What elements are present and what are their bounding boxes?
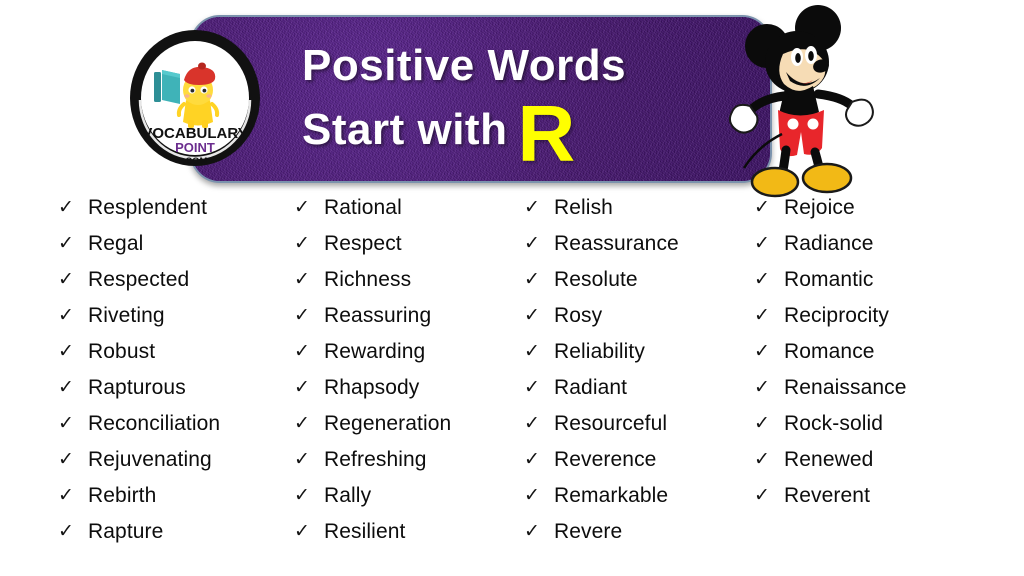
list-item[interactable]: ✓Resilient xyxy=(294,520,524,556)
check-icon: ✓ xyxy=(524,522,554,541)
check-icon: ✓ xyxy=(294,198,324,217)
list-item[interactable]: ✓Renewed xyxy=(754,448,990,484)
logo-text-point: POINT xyxy=(175,140,215,155)
check-icon: ✓ xyxy=(294,234,324,253)
check-icon: ✓ xyxy=(294,522,324,541)
word-label: Rhapsody xyxy=(324,376,419,400)
word-label: Revere xyxy=(554,520,622,544)
list-item[interactable]: ✓Rally xyxy=(294,484,524,520)
list-item[interactable]: ✓Renaissance xyxy=(754,376,990,412)
check-icon: ✓ xyxy=(294,378,324,397)
list-item[interactable]: ✓Rapture xyxy=(58,520,294,556)
word-label: Reverent xyxy=(784,484,870,508)
title-banner: Positive Words Start with R xyxy=(190,15,772,183)
infographic-page: Positive Words Start with R xyxy=(0,0,1024,576)
word-column-4: ✓Rejoice ✓Radiance ✓Romantic ✓Reciprocit… xyxy=(754,196,990,572)
check-icon: ✓ xyxy=(754,378,784,397)
word-label: Regal xyxy=(88,232,143,256)
check-icon: ✓ xyxy=(294,450,324,469)
word-label: Refreshing xyxy=(324,448,427,472)
word-label: Rebirth xyxy=(88,484,156,508)
list-item[interactable]: ✓Reverence xyxy=(524,448,754,484)
word-label: Renewed xyxy=(784,448,873,472)
list-item[interactable]: ✓Richness xyxy=(294,268,524,304)
list-item[interactable]: ✓Respected xyxy=(58,268,294,304)
list-item[interactable]: ✓Reverent xyxy=(754,484,990,520)
word-label: Rapture xyxy=(88,520,163,544)
list-item[interactable]: ✓Rebirth xyxy=(58,484,294,520)
check-icon: ✓ xyxy=(294,270,324,289)
check-icon: ✓ xyxy=(524,234,554,253)
word-label: Rally xyxy=(324,484,371,508)
check-icon: ✓ xyxy=(754,486,784,505)
list-item[interactable]: ✓Romantic xyxy=(754,268,990,304)
list-item[interactable]: ✓Robust xyxy=(58,340,294,376)
list-item[interactable]: ✓Reassurance xyxy=(524,232,754,268)
word-label: Richness xyxy=(324,268,411,292)
check-icon: ✓ xyxy=(524,414,554,433)
word-column-1: ✓Resplendent ✓Regal ✓Respected ✓Riveting… xyxy=(58,196,294,572)
check-icon: ✓ xyxy=(294,486,324,505)
check-icon: ✓ xyxy=(58,234,88,253)
check-icon: ✓ xyxy=(58,198,88,217)
list-item[interactable]: ✓Resolute xyxy=(524,268,754,304)
list-item[interactable]: ✓Regal xyxy=(58,232,294,268)
check-icon: ✓ xyxy=(58,342,88,361)
word-label: Rapturous xyxy=(88,376,186,400)
list-item[interactable]: ✓Revere xyxy=(524,520,754,556)
logo-text-com: .COM xyxy=(183,156,208,167)
list-item[interactable]: ✓Rejuvenating xyxy=(58,448,294,484)
word-label: Remarkable xyxy=(554,484,668,508)
list-item[interactable]: ✓Resourceful xyxy=(524,412,754,448)
check-icon: ✓ xyxy=(58,486,88,505)
check-icon: ✓ xyxy=(524,450,554,469)
word-label: Resplendent xyxy=(88,196,207,220)
check-icon: ✓ xyxy=(524,198,554,217)
list-item[interactable]: ✓Reconciliation xyxy=(58,412,294,448)
check-icon: ✓ xyxy=(294,306,324,325)
check-icon: ✓ xyxy=(58,306,88,325)
word-label: Rock-solid xyxy=(784,412,883,436)
word-label: Reverence xyxy=(554,448,656,472)
list-item[interactable]: ✓Rosy xyxy=(524,304,754,340)
vocabulary-point-logo[interactable]: VOCABULARY POINT .COM xyxy=(128,28,263,168)
title-line-1: Positive Words xyxy=(302,35,626,97)
check-icon: ✓ xyxy=(524,486,554,505)
word-label: Rewarding xyxy=(324,340,425,364)
list-item[interactable]: ✓Rewarding xyxy=(294,340,524,376)
word-label: Respected xyxy=(88,268,189,292)
check-icon: ✓ xyxy=(754,414,784,433)
word-label: Resourceful xyxy=(554,412,667,436)
check-icon: ✓ xyxy=(58,270,88,289)
list-item[interactable]: ✓Radiance xyxy=(754,232,990,268)
check-icon: ✓ xyxy=(294,414,324,433)
check-icon: ✓ xyxy=(754,306,784,325)
check-icon: ✓ xyxy=(58,378,88,397)
word-label: Relish xyxy=(554,196,613,220)
word-label: Romance xyxy=(784,340,875,364)
word-label: Rejuvenating xyxy=(88,448,212,472)
word-label: Rational xyxy=(324,196,402,220)
word-column-2: ✓Rational ✓Respect ✓Richness ✓Reassuring… xyxy=(294,196,524,572)
word-label: Radiant xyxy=(554,376,627,400)
list-item[interactable]: ✓Regeneration xyxy=(294,412,524,448)
check-icon: ✓ xyxy=(524,306,554,325)
word-label: Renaissance xyxy=(784,376,907,400)
word-label: Respect xyxy=(324,232,402,256)
check-icon: ✓ xyxy=(58,522,88,541)
list-item[interactable]: ✓Rhapsody xyxy=(294,376,524,412)
check-icon: ✓ xyxy=(58,414,88,433)
list-item[interactable]: ✓Refreshing xyxy=(294,448,524,484)
check-icon: ✓ xyxy=(294,342,324,361)
check-icon: ✓ xyxy=(524,378,554,397)
word-label: Reliability xyxy=(554,340,645,364)
word-label: Robust xyxy=(88,340,155,364)
word-label: Resolute xyxy=(554,268,638,292)
book-icon xyxy=(154,70,180,104)
list-item[interactable]: ✓Romance xyxy=(754,340,990,376)
mickey-mouse-character xyxy=(700,2,885,207)
word-label: Radiance xyxy=(784,232,874,256)
word-label: Reassurance xyxy=(554,232,679,256)
list-item[interactable]: ✓Rock-solid xyxy=(754,412,990,448)
title-line-2-wrap: Start with R xyxy=(302,97,576,163)
list-item[interactable]: ✓Resplendent xyxy=(58,196,294,232)
word-label: Rosy xyxy=(554,304,602,328)
word-label: Reconciliation xyxy=(88,412,220,436)
check-icon: ✓ xyxy=(754,342,784,361)
check-icon: ✓ xyxy=(754,270,784,289)
word-label: Romantic xyxy=(784,268,874,292)
check-icon: ✓ xyxy=(754,450,784,469)
word-label: Reassuring xyxy=(324,304,431,328)
word-label: Resilient xyxy=(324,520,405,544)
list-item[interactable]: ✓Reassuring xyxy=(294,304,524,340)
list-item[interactable]: ✓Radiant xyxy=(524,376,754,412)
word-column-3: ✓Relish ✓Reassurance ✓Resolute ✓Rosy ✓Re… xyxy=(524,196,754,572)
check-icon: ✓ xyxy=(58,450,88,469)
list-item[interactable]: ✓Riveting xyxy=(58,304,294,340)
word-label: Riveting xyxy=(88,304,165,328)
word-columns: ✓Resplendent ✓Regal ✓Respected ✓Riveting… xyxy=(0,196,1024,572)
word-label: Reciprocity xyxy=(784,304,889,328)
list-item[interactable]: ✓Rapturous xyxy=(58,376,294,412)
check-icon: ✓ xyxy=(754,234,784,253)
title-line-2: Start with xyxy=(302,99,507,161)
list-item[interactable]: ✓Reliability xyxy=(524,340,754,376)
list-item[interactable]: ✓Remarkable xyxy=(524,484,754,520)
list-item[interactable]: ✓Reciprocity xyxy=(754,304,990,340)
list-item[interactable]: ✓Respect xyxy=(294,232,524,268)
check-icon: ✓ xyxy=(524,342,554,361)
accent-letter-r: R xyxy=(517,101,575,167)
check-icon: ✓ xyxy=(524,270,554,289)
list-item[interactable]: ✓Rational xyxy=(294,196,524,232)
word-label: Regeneration xyxy=(324,412,451,436)
banner-title-block: Positive Words Start with R xyxy=(192,17,770,181)
